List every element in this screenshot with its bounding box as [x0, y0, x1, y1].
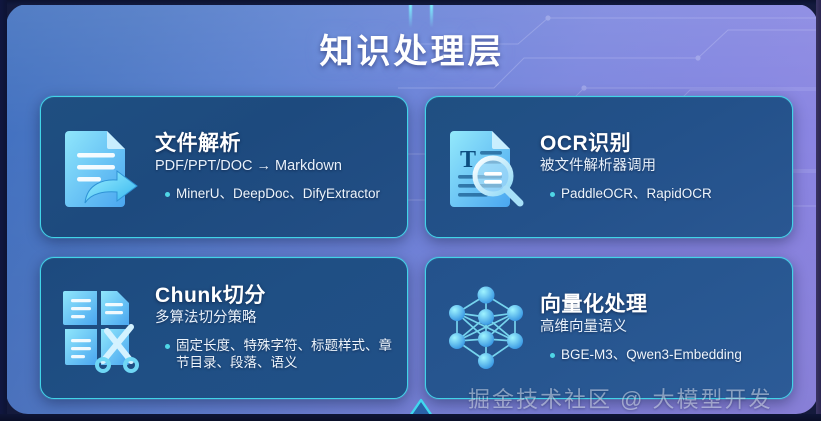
page-header: 知识处理层 [6, 24, 818, 73]
card-bullet-text: MinerU、DeepDoc、DifyExtractor [176, 185, 380, 203]
left-edge-strip [0, 0, 7, 421]
card-bullet-text: 固定长度、特殊字符、标题样式、章节目录、段落、语义 [176, 337, 393, 373]
card-body: Chunk切分 多算法切分策略 固定长度、特殊字符、标题样式、章节目录、段落、语… [149, 284, 397, 373]
page-title: 知识处理层 [6, 24, 818, 73]
top-edge-strip [0, 0, 821, 5]
card-grid: 文件解析 PDF/PPT/DOC → Markdown MinerU、DeepD… [40, 96, 793, 399]
bullet-dot-icon [165, 344, 170, 349]
bullet-dot-icon [165, 192, 170, 197]
right-edge-strip [816, 0, 821, 421]
card-bullet: BGE-M3、Qwen3-Embedding [540, 346, 778, 364]
content-panel: 知识处理层 [6, 4, 818, 414]
card-subtitle: 被文件解析器调用 [540, 158, 778, 175]
card-subtitle: 多算法切分策略 [155, 310, 393, 327]
watermark-text: 掘金技术社区 @ 大模型开发 [468, 382, 773, 414]
card-vectorization[interactable]: 向量化处理 高维向量语义 BGE-M3、Qwen3-Embedding [425, 257, 793, 399]
document-arrow-icon [53, 117, 149, 217]
bullet-dot-icon [550, 353, 555, 358]
card-body: OCR识别 被文件解析器调用 PaddleOCR、RapidOCR [534, 132, 782, 203]
bullet-dot-icon [550, 192, 555, 197]
bottom-edge-strip [0, 414, 821, 421]
svg-text:T: T [460, 147, 476, 173]
neural-network-icon [438, 278, 534, 378]
card-bullet: PaddleOCR、RapidOCR [540, 185, 778, 203]
card-bullet-text: PaddleOCR、RapidOCR [561, 185, 712, 203]
card-subtitle: 高维向量语义 [540, 319, 778, 336]
card-bullet: MinerU、DeepDoc、DifyExtractor [155, 185, 393, 203]
card-title: 向量化处理 [540, 293, 778, 317]
card-bullet: 固定长度、特殊字符、标题样式、章节目录、段落、语义 [155, 337, 393, 373]
card-file-parsing[interactable]: 文件解析 PDF/PPT/DOC → Markdown MinerU、DeepD… [40, 96, 408, 238]
card-title: OCR识别 [540, 132, 778, 156]
card-chunking[interactable]: Chunk切分 多算法切分策略 固定长度、特殊字符、标题样式、章节目录、段落、语… [40, 257, 408, 399]
card-body: 文件解析 PDF/PPT/DOC → Markdown MinerU、DeepD… [149, 132, 397, 203]
card-title: 文件解析 [155, 132, 393, 156]
slide-canvas: 知识处理层 [0, 0, 821, 421]
document-scissors-icon [53, 278, 149, 378]
card-ocr[interactable]: T OCR识别 被文件解析器调用 [425, 96, 793, 238]
card-title: Chunk切分 [155, 284, 393, 308]
card-bullet-text: BGE-M3、Qwen3-Embedding [561, 346, 742, 364]
card-subtitle: PDF/PPT/DOC → Markdown [155, 158, 393, 175]
document-magnifier-icon: T [438, 117, 534, 217]
card-body: 向量化处理 高维向量语义 BGE-M3、Qwen3-Embedding [534, 293, 782, 364]
